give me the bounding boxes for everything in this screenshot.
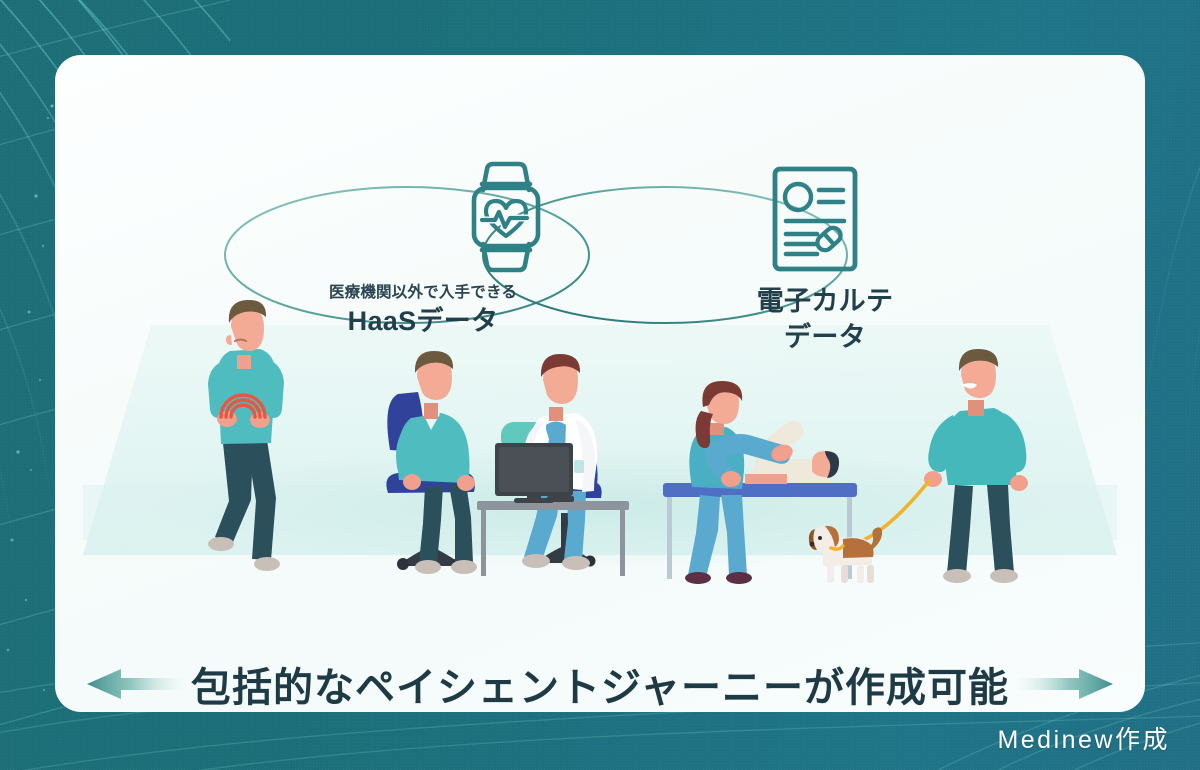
caption-text: 包括的なペイシェントジャーニーが作成可能 xyxy=(191,655,1009,712)
caption-row: 包括的なペイシェントジャーニーが作成可能 xyxy=(55,649,1145,712)
arrow-right-icon xyxy=(1015,667,1113,701)
patient-journey-illustration xyxy=(55,55,1145,712)
content-card: 医療機関以外で入手できる HaaSデータ 電子カルテ データ xyxy=(55,55,1145,712)
figure-doctor-at-desk xyxy=(477,354,629,576)
watermark-medinew: Medinew作成 xyxy=(997,720,1170,756)
arrow-left-icon xyxy=(87,667,185,701)
figure-person-with-stomach-pain xyxy=(208,300,284,571)
figure-person-seated-in-office-chair xyxy=(386,351,477,574)
infographic-canvas: 医療機関以外で入手できる HaaSデータ 電子カルテ データ xyxy=(0,0,1200,770)
figure-person-walking-dog xyxy=(809,349,1028,583)
